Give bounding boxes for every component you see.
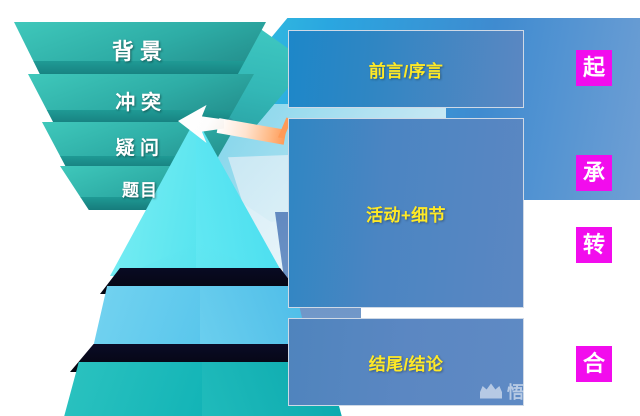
badge-label-cheng: 承 xyxy=(583,162,605,184)
watermark: 悟空问答 xyxy=(480,378,578,403)
panel-label-conclusion: 结尾/结论 xyxy=(369,350,443,375)
badge-label-qi: 起 xyxy=(583,57,605,79)
badge-zhuan[interactable]: 转 xyxy=(576,227,612,263)
panel-label-activities-details: 活动+细节 xyxy=(366,201,446,226)
pyramid-tier3-left-face xyxy=(62,362,202,416)
left-pointing-arrow xyxy=(178,101,298,147)
badge-label-zhuan: 转 xyxy=(583,234,605,256)
badge-he[interactable]: 合 xyxy=(576,346,612,382)
funnel-label-question: 疑问 xyxy=(116,133,165,160)
arrow-head-icon xyxy=(178,105,224,143)
panel-label-preface: 前言/序言 xyxy=(369,57,443,82)
arrow-shaft xyxy=(217,118,287,145)
slide-canvas: 背景 冲突 疑问 题目 xyxy=(0,0,640,416)
badge-label-he: 合 xyxy=(583,353,605,375)
badge-cheng[interactable]: 承 xyxy=(576,155,612,191)
funnel-label-background: 背景 xyxy=(112,34,168,66)
watermark-text: 悟空问答 xyxy=(507,378,578,403)
funnel-label-conflict: 冲突 xyxy=(115,86,166,115)
pyramid-tier2-left-face xyxy=(92,286,200,352)
badge-qi[interactable]: 起 xyxy=(576,50,612,86)
panel-preface[interactable]: 前言/序言 xyxy=(288,30,524,108)
funnel-row-background[interactable]: 背景 xyxy=(14,22,266,78)
panel-activities-details[interactable]: 活动+细节 xyxy=(288,118,524,308)
cloud-mark-icon xyxy=(480,383,502,399)
funnel-label-topic: 题目 xyxy=(122,176,158,201)
